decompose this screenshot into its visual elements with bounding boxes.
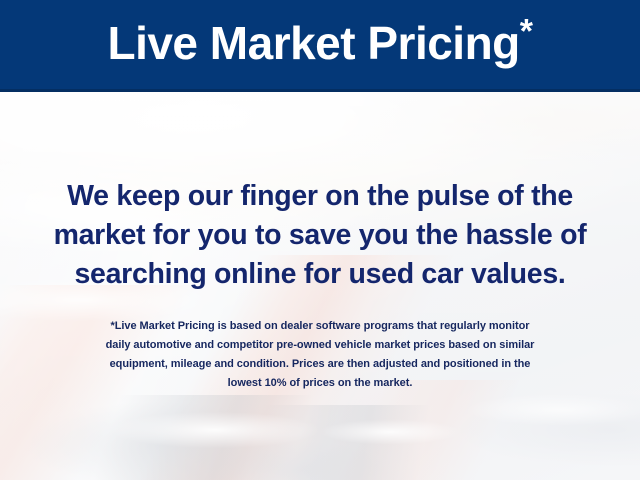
disclaimer-line-2: daily automotive and competitor pre-owne…: [28, 336, 612, 355]
disclaimer-line-4: lowest 10% of prices on the market.: [28, 374, 612, 393]
headline-line-1: We keep our finger on the pulse of the: [24, 177, 616, 216]
page-title-footnote-marker: *: [520, 12, 533, 50]
page-title: Live Market Pricing*: [107, 20, 532, 70]
content-area: We keep our finger on the pulse of the m…: [0, 95, 640, 480]
disclaimer-line-3: equipment, mileage and condition. Prices…: [28, 355, 612, 374]
headline-text: We keep our finger on the pulse of the m…: [24, 177, 616, 294]
disclaimer-text: *Live Market Pricing is based on dealer …: [28, 317, 612, 393]
live-market-pricing-card: Live Market Pricing* We keep our finger …: [0, 0, 640, 480]
header-banner: Live Market Pricing*: [0, 0, 640, 92]
headline-line-2: market for you to save you the hassle of: [24, 216, 616, 255]
headline-line-3: searching online for used car values.: [24, 255, 616, 294]
page-title-text: Live Market Pricing: [107, 17, 519, 69]
disclaimer-line-1: *Live Market Pricing is based on dealer …: [28, 317, 612, 336]
